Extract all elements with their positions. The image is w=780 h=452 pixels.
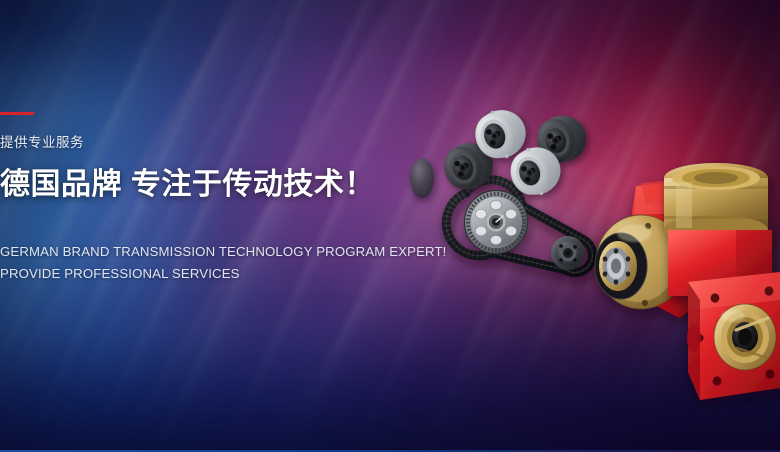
subtitle-chinese: 提供专业服务 <box>0 136 420 150</box>
timing-pulley-dark-lower-left <box>439 137 499 195</box>
promotional-banner: 提供专业服务 德国品牌 专注于传动技术！ GERMAN BRAND TRANSM… <box>0 0 780 452</box>
timing-belt-drive-assembly <box>446 180 592 273</box>
gearbox-right-brass-barrel <box>664 163 768 245</box>
banner-text-block: 提供专业服务 德国品牌 专注于传动技术！ GERMAN BRAND TRANSM… <box>0 112 420 285</box>
gearbox-right-output-housing <box>688 272 780 400</box>
right-angle-gearbox-left <box>595 179 706 318</box>
timing-pulley-dark-upper-right <box>532 111 591 168</box>
belt-small-pulley <box>551 236 585 270</box>
timing-pulley-silver-upper-left <box>469 103 532 166</box>
red-accent-rule <box>0 112 34 115</box>
gearbox-left-brass-flange <box>595 215 686 309</box>
right-angle-gearbox-right <box>664 163 780 400</box>
timing-pulley-silver-lower-right <box>505 140 567 201</box>
belt-large-pulley <box>465 191 528 254</box>
timing-pulley-cluster <box>439 103 591 202</box>
english-tagline-line-2: PROVIDE PROFESSIONAL SERVICES <box>0 263 420 285</box>
headline-chinese: 德国品牌 专注于传动技术！ <box>0 168 420 202</box>
english-tagline-line-1: GERMAN BRAND TRANSMISSION TECHNOLOGY PRO… <box>0 241 420 263</box>
